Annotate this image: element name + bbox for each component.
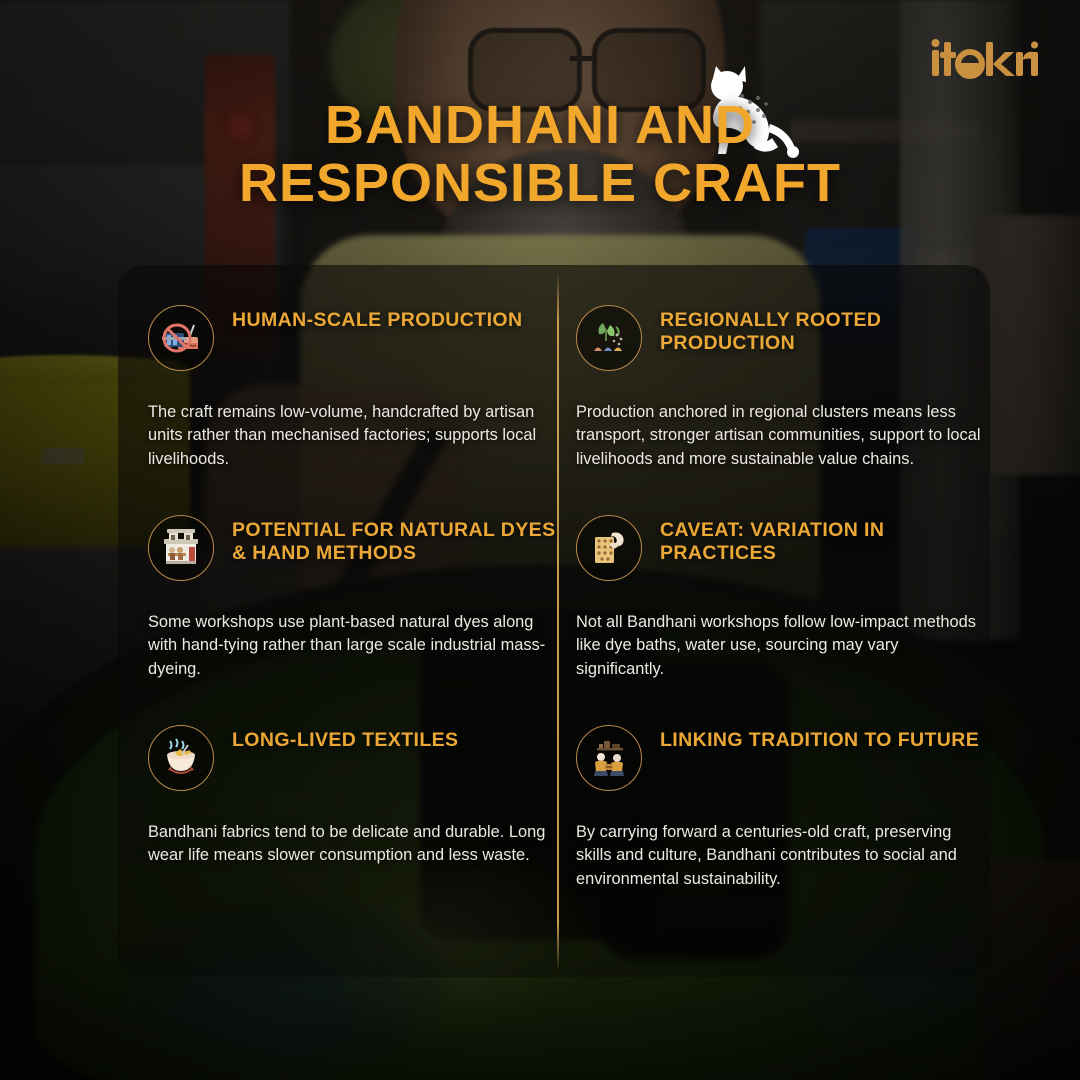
card-long-lived-textiles: LONG-LIVED TEXTILES Bandhani fabrics ten… — [148, 723, 566, 868]
card-header: POTENTIAL FOR NATURAL DYES & HAND METHOD… — [148, 513, 566, 585]
title-line-2: RESPONSIBLE CRAFT — [0, 154, 1080, 212]
two-artisans-working-icon — [576, 725, 642, 791]
card-linking-tradition-to-future: LINKING TRADITION TO FUTURE By carrying … — [576, 723, 994, 891]
card-body: Production anchored in regional clusters… — [576, 401, 986, 471]
card-body: Bandhani fabrics tend to be delicate and… — [148, 821, 548, 868]
hand-holding-fabric-swatch-icon — [576, 515, 642, 581]
card-title: REGIONALLY ROOTED PRODUCTION — [660, 303, 994, 355]
natural-dye-plants-icon — [576, 305, 642, 371]
card-regionally-rooted-production: REGIONALLY ROOTED PRODUCTION Production … — [576, 303, 994, 471]
card-title: POTENTIAL FOR NATURAL DYES & HAND METHOD… — [232, 513, 566, 565]
card-body: By carrying forward a centuries-old craf… — [576, 821, 986, 891]
steaming-dye-pot-icon — [148, 725, 214, 791]
card-header: LINKING TRADITION TO FUTURE — [576, 723, 994, 795]
itokri-wordmark-icon — [930, 38, 1040, 80]
title-line-1: BANDHANI AND — [0, 96, 1080, 154]
card-header: HUMAN-SCALE PRODUCTION — [148, 303, 566, 375]
page-title: BANDHANI AND RESPONSIBLE CRAFT — [0, 96, 1080, 213]
card-natural-dyes-hand-methods: POTENTIAL FOR NATURAL DYES & HAND METHOD… — [148, 513, 566, 681]
card-title: LINKING TRADITION TO FUTURE — [660, 723, 979, 752]
card-title: LONG-LIVED TEXTILES — [232, 723, 458, 752]
card-human-scale-production: HUMAN-SCALE PRODUCTION The craft remains… — [148, 303, 566, 471]
card-body: Some workshops use plant-based natural d… — [148, 611, 548, 681]
card-body: Not all Bandhani workshops follow low-im… — [576, 611, 986, 681]
no-mass-production-icon — [148, 305, 214, 371]
infographic-canvas: BANDHANI AND RESPONSIBLE CRAFT — [0, 0, 1080, 1080]
craft-workshop-building-icon — [148, 515, 214, 581]
cards-grid: HUMAN-SCALE PRODUCTION The craft remains… — [118, 265, 990, 977]
brand-logo[interactable] — [930, 38, 1040, 87]
card-header: CAVEAT: VARIATION IN PRACTICES — [576, 513, 994, 585]
card-header: REGIONALLY ROOTED PRODUCTION — [576, 303, 994, 375]
card-caveat-variation-in-practices: CAVEAT: VARIATION IN PRACTICES Not all B… — [576, 513, 994, 681]
card-body: The craft remains low-volume, handcrafte… — [148, 401, 548, 471]
card-header: LONG-LIVED TEXTILES — [148, 723, 566, 795]
card-title: HUMAN-SCALE PRODUCTION — [232, 303, 522, 332]
card-title: CAVEAT: VARIATION IN PRACTICES — [660, 513, 994, 565]
